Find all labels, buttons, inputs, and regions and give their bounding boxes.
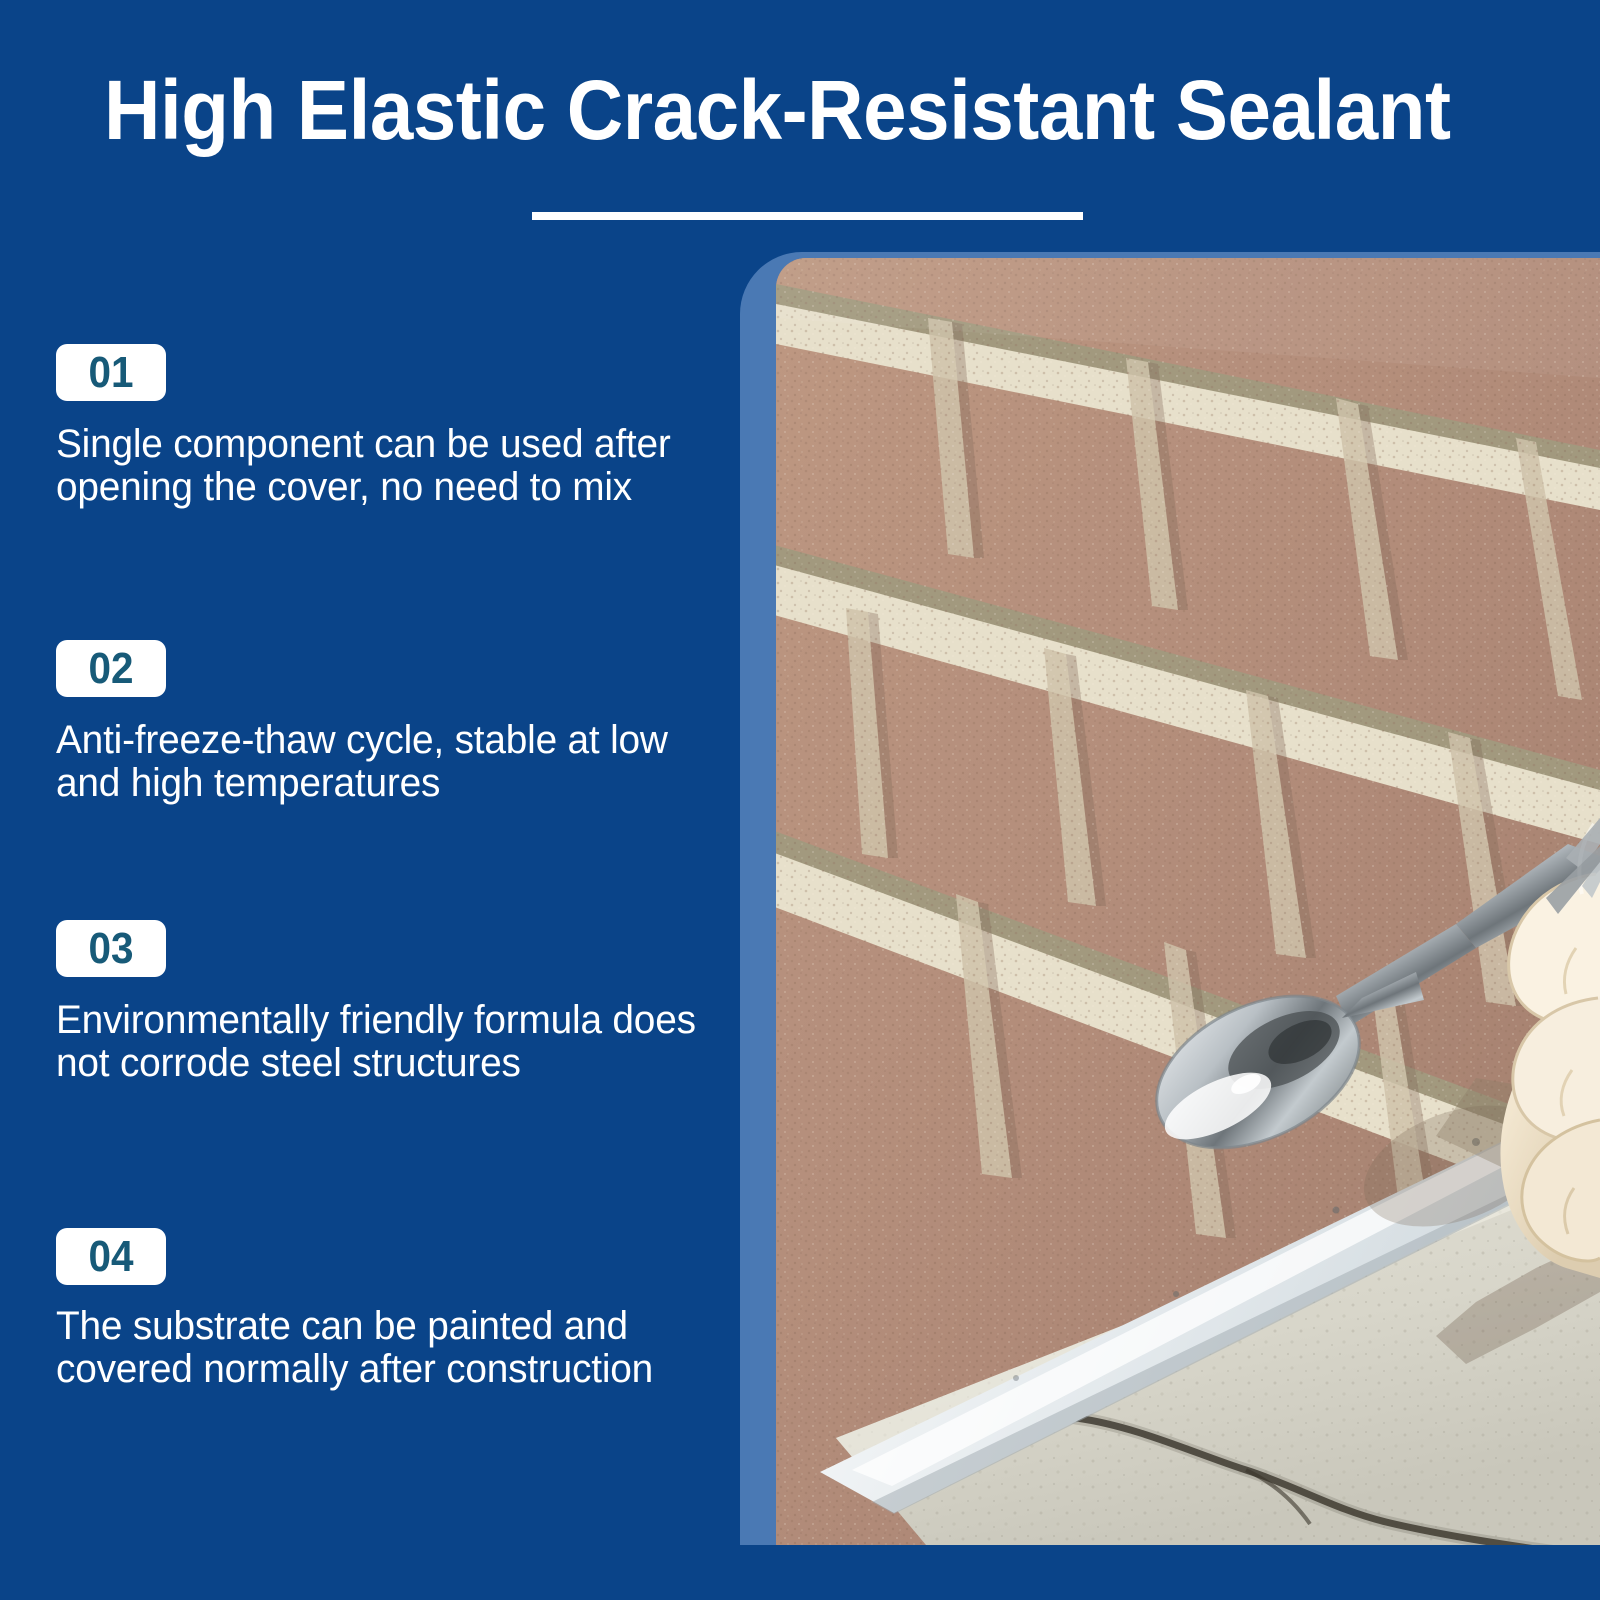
feature-badge-label: 01 xyxy=(71,344,150,401)
product-photo-panel xyxy=(740,252,1600,1545)
feature-description: Anti-freeze-thaw cycle, stable at low an… xyxy=(56,719,716,805)
feature-item-04: 04 The substrate can be painted and cove… xyxy=(56,1228,736,1391)
feature-item-03: 03 Environmentally friendly formula does… xyxy=(56,920,736,1085)
feature-list: 01 Single component can be used after op… xyxy=(0,0,740,1600)
feature-number-badge: 03 xyxy=(56,920,166,977)
feature-description: The substrate can be painted and covered… xyxy=(56,1305,716,1391)
feature-item-02: 02 Anti-freeze-thaw cycle, stable at low… xyxy=(56,640,736,805)
feature-number-badge: 01 xyxy=(56,344,166,401)
feature-description: Environmentally friendly formula does no… xyxy=(56,999,716,1085)
feature-item-01: 01 Single component can be used after op… xyxy=(56,344,736,509)
feature-badge-label: 03 xyxy=(71,920,150,977)
feature-badge-label: 02 xyxy=(71,640,150,697)
feature-badge-label: 04 xyxy=(71,1228,150,1285)
feature-number-badge: 02 xyxy=(56,640,166,697)
photo-bottom-spacer xyxy=(740,1545,1600,1600)
feature-number-badge: 04 xyxy=(56,1228,166,1285)
sealant-application-photo xyxy=(776,258,1600,1545)
feature-description: Single component can be used after openi… xyxy=(56,423,716,509)
